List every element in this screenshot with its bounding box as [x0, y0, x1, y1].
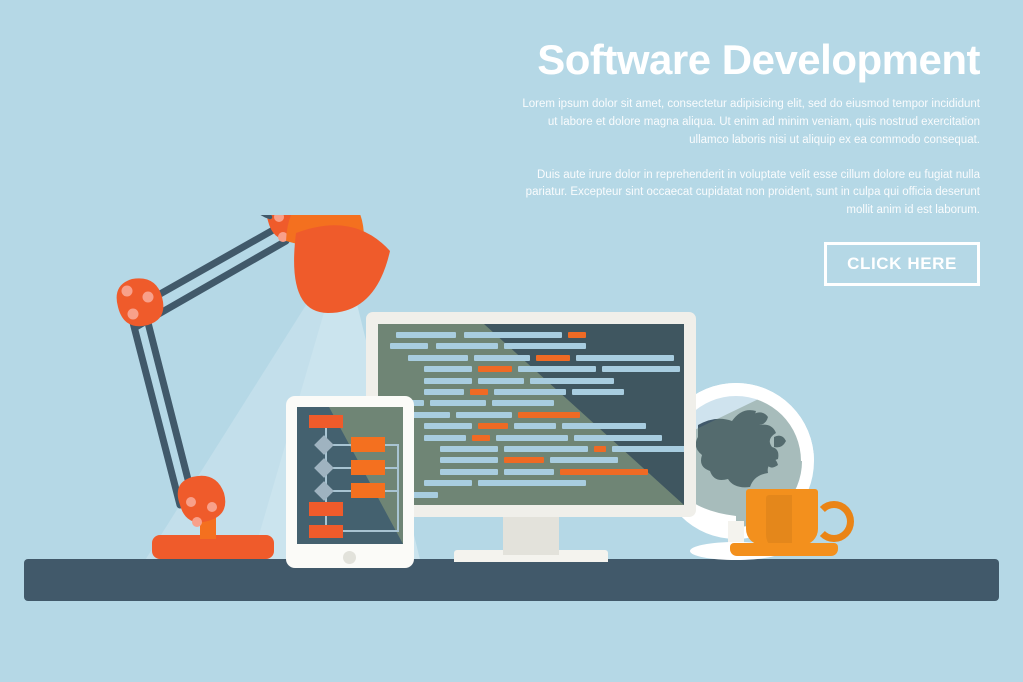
code-line-segment	[430, 400, 486, 406]
code-line-segment	[612, 446, 684, 452]
code-line-segment	[478, 480, 586, 486]
code-line-segment	[494, 389, 566, 395]
screen-shadow-region	[484, 324, 684, 505]
code-line-segment	[478, 378, 524, 384]
coffee-cup	[726, 483, 846, 563]
code-line-segment	[478, 366, 512, 372]
cup-saucer	[730, 543, 838, 556]
code-line-segment	[470, 389, 488, 395]
cta-container: CLICK HERE	[520, 242, 980, 286]
code-line-segment	[496, 435, 568, 441]
code-line-segment	[390, 343, 428, 349]
code-line-segment	[456, 412, 512, 418]
cup-handle	[814, 501, 854, 542]
code-line-segment	[440, 469, 498, 475]
monitor-bezel	[366, 312, 696, 517]
code-line-segment	[424, 366, 472, 372]
code-line-segment	[424, 389, 464, 395]
code-line-segment	[408, 355, 468, 361]
code-line-segment	[424, 480, 472, 486]
code-line-segment	[568, 332, 586, 338]
monitor-stand	[503, 517, 559, 555]
code-line-segment	[492, 400, 554, 406]
code-line-segment	[478, 423, 508, 429]
code-line-segment	[518, 366, 596, 372]
hero-paragraph-1: Lorem ipsum dolor sit amet, consectetur …	[520, 96, 980, 149]
flowchart-connector	[397, 444, 399, 531]
code-line-segment	[504, 446, 588, 452]
code-line-segment	[474, 355, 530, 361]
desktop-monitor	[366, 312, 696, 562]
code-line-segment	[504, 343, 586, 349]
code-line-segment	[424, 435, 466, 441]
code-line-segment	[576, 355, 674, 361]
code-line-segment	[424, 378, 472, 384]
code-line-segment	[396, 332, 456, 338]
hero-paragraph-2: Duis aute irure dolor in reprehenderit i…	[520, 167, 980, 220]
code-line-segment	[536, 355, 570, 361]
code-line-segment	[472, 435, 490, 441]
code-line-segment	[560, 469, 648, 475]
code-line-segment	[424, 423, 472, 429]
desk-lamp	[100, 215, 390, 570]
code-line-segment	[550, 457, 618, 463]
code-line-segment	[602, 366, 680, 372]
hero-text-block: Software Development Lorem ipsum dolor s…	[520, 38, 980, 286]
code-line-segment	[572, 389, 624, 395]
code-line-segment	[594, 446, 606, 452]
code-line-segment	[440, 446, 498, 452]
code-line-segment	[574, 435, 662, 441]
code-line-segment	[562, 423, 646, 429]
code-line-segment	[464, 332, 562, 338]
code-line-segment	[518, 412, 580, 418]
code-line-segment	[504, 469, 554, 475]
cup-body	[746, 489, 818, 545]
monitor-screen[interactable]	[378, 324, 684, 505]
page-title: Software Development	[520, 38, 980, 82]
illustration-canvas: Software Development Lorem ipsum dolor s…	[0, 0, 1023, 682]
code-line-segment	[504, 457, 544, 463]
code-line-segment	[436, 343, 498, 349]
code-line-segment	[530, 378, 614, 384]
code-line-segment	[514, 423, 556, 429]
click-here-button[interactable]: CLICK HERE	[824, 242, 980, 286]
code-line-segment	[440, 457, 498, 463]
